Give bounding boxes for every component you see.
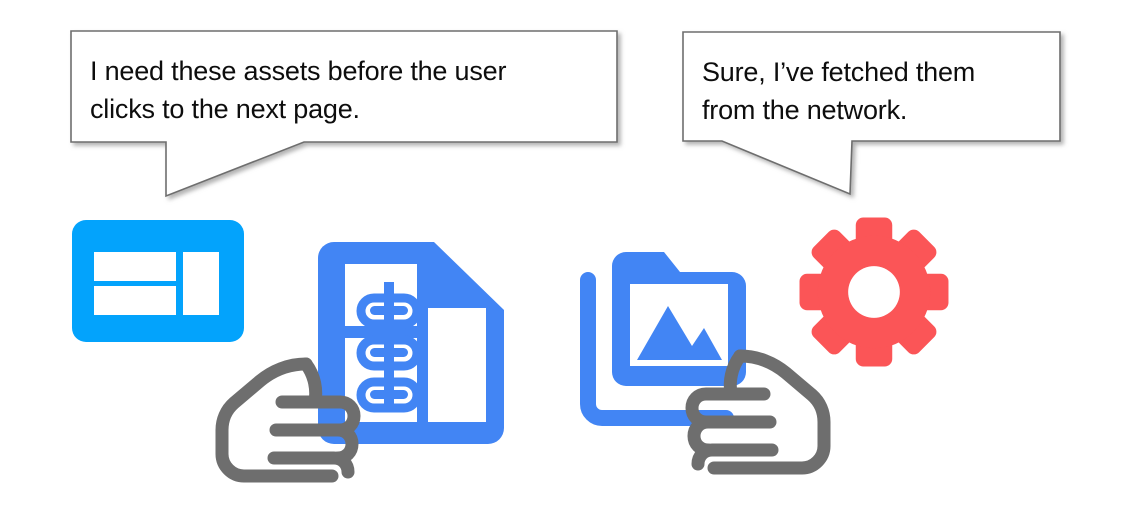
document-field-right [428,308,486,422]
layout-panel-row-top [94,252,176,281]
chain-crossbar-1 [370,306,408,315]
hand-outline [222,364,354,476]
speech-bubble-browser-text: I need these assets before the user clic… [90,52,620,129]
hand-pointing-left-icon [668,344,832,478]
speech-bubble-network-text: Sure, I’ve fetched them from the network… [702,53,1072,130]
layout-panel-sidebar [183,252,219,315]
hand-pointing-right-icon [214,352,378,486]
hand-outline [692,356,824,468]
gear-center-hole [848,266,900,318]
chain-spine-bar [384,282,394,406]
layout-panel-row-bottom [94,286,176,315]
illustration-canvas: I need these assets before the user clic… [0,0,1130,528]
speech-bubble-browser: I need these assets before the user clic… [70,30,630,210]
layout-panel-icon [72,220,244,342]
speech-bubble-network: Sure, I’ve fetched them from the network… [682,31,1082,211]
